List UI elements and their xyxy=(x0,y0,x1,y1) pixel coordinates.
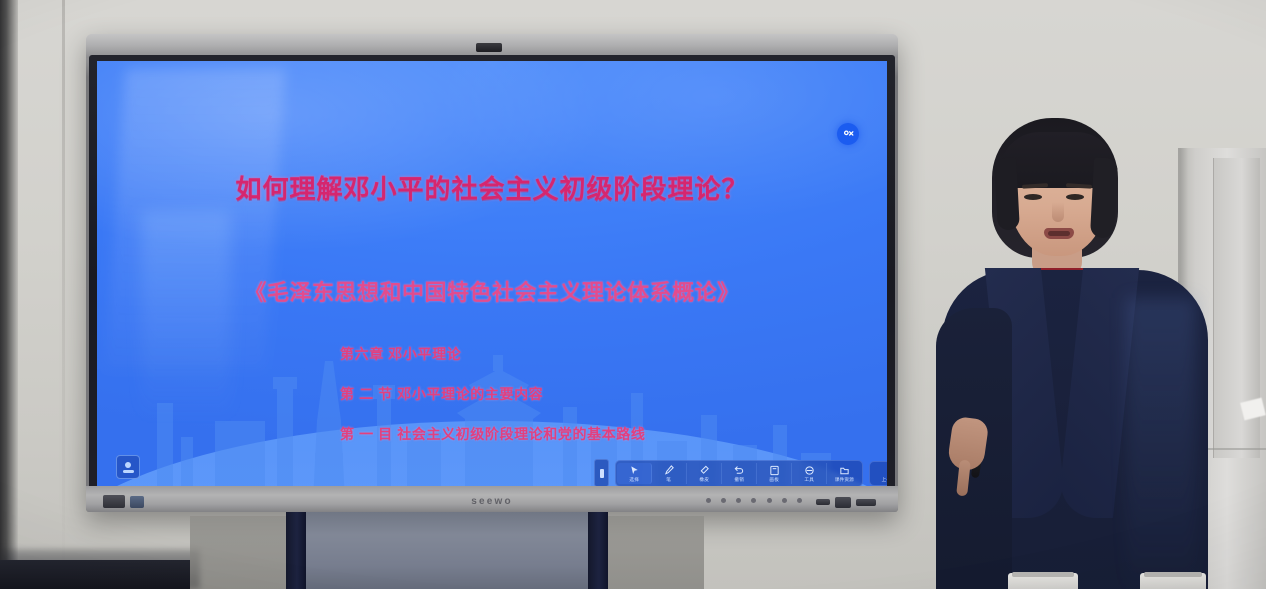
undo-icon xyxy=(733,464,745,477)
toolbar-tools[interactable]: 选择 笔 橡皮 xyxy=(615,460,863,487)
mouth-inner xyxy=(1048,231,1070,236)
eye-left xyxy=(1024,194,1042,200)
tool-label: 画板 xyxy=(769,478,779,483)
slide-bullet-list: 第六章 邓小平理论 第 二 节 邓小平理论的主要内容 第 一 目 社会主义初级阶… xyxy=(340,344,860,464)
tool-label: 撤销 xyxy=(734,478,744,483)
interactive-flat-panel: 如何理解邓小平的社会主义初级阶段理论？ 《毛泽东思想和中国特色社会主义理论体系概… xyxy=(86,34,898,512)
stand-backdrop-left xyxy=(190,516,286,589)
wall-left-edge xyxy=(0,0,18,589)
coat-highlight xyxy=(1126,298,1196,589)
desk-object-right-top xyxy=(1144,572,1202,577)
stand-leg-left xyxy=(286,512,306,589)
tool-label: 橡皮 xyxy=(699,478,709,483)
tool-undo[interactable]: 撤销 xyxy=(722,463,757,484)
cursor-icon xyxy=(629,464,640,477)
stand-panel xyxy=(306,512,588,589)
prev-page-button[interactable]: ‹ 上一页 xyxy=(872,464,887,483)
account-card-icon[interactable] xyxy=(116,455,140,479)
classroom-scene: 如何理解邓小平的社会主义初级阶段理论？ 《毛泽东思想和中国特色社会主义理论体系概… xyxy=(0,0,1266,589)
tool-pen[interactable]: 笔 xyxy=(652,463,687,484)
seewo-toolbar[interactable]: 选择 笔 橡皮 xyxy=(594,459,887,487)
hair-side-left xyxy=(994,157,1020,230)
slide-title: 如何理解邓小平的社会主义初级阶段理论？ xyxy=(97,169,887,206)
screen-reflection-left-2 xyxy=(141,211,231,421)
tool-board[interactable]: 画板 xyxy=(757,463,792,484)
wall-seam xyxy=(62,0,65,560)
tool-cursor[interactable]: 选择 xyxy=(617,463,652,484)
hair-side-right xyxy=(1090,157,1118,238)
list-item: 第六章 邓小平理论 xyxy=(340,344,860,364)
presenter xyxy=(940,118,1220,589)
pen-icon xyxy=(664,464,675,477)
eraser-icon xyxy=(699,464,710,477)
panel-bottom-bezel: seewo xyxy=(86,486,898,512)
slide-subtitle: 《毛泽东思想和中国特色社会主义理论体系概论》 xyxy=(97,275,887,307)
desk-object-left-top xyxy=(1012,572,1074,577)
list-item: 第 二 节 邓小平理论的主要内容 xyxy=(340,384,860,404)
stand-leg-right xyxy=(588,512,608,589)
eye-right xyxy=(1066,194,1084,200)
tool-label: 工具 xyxy=(804,478,814,483)
toolbar-collapse-handle[interactable] xyxy=(594,459,609,487)
foreground-desk xyxy=(0,560,190,589)
panel-bezel: 如何理解邓小平的社会主义初级阶段理论？ 《毛泽东思想和中国特色社会主义理论体系概… xyxy=(89,55,895,507)
nose xyxy=(1052,202,1064,222)
prev-page-label: 上一页 xyxy=(882,478,887,483)
stand-backdrop-right xyxy=(608,516,704,589)
tool-label: 选择 xyxy=(629,478,639,483)
panel-ports xyxy=(816,496,880,508)
tool-label: 课件资源 xyxy=(834,478,853,483)
page-icon xyxy=(769,464,780,477)
panel-control-buttons[interactable] xyxy=(706,497,802,504)
tool-eraser[interactable]: 橡皮 xyxy=(687,463,722,484)
list-item: 第 一 目 社会主义初级阶段理论和党的基本路线 xyxy=(340,424,860,444)
shape-icon xyxy=(804,464,815,477)
presentation-screen[interactable]: 如何理解邓小平的社会主义初级阶段理论？ 《毛泽东思想和中国特色社会主义理论体系概… xyxy=(97,61,887,501)
seewo-cloud-badge-icon[interactable] xyxy=(837,123,859,145)
tool-shape[interactable]: 工具 xyxy=(792,463,827,484)
tool-resources[interactable]: 课件资源 xyxy=(827,463,861,484)
tool-label: 笔 xyxy=(667,478,672,483)
folder-icon xyxy=(839,464,850,477)
slide-pager[interactable]: ‹ 上一页 1/17 页码 › 下一页 xyxy=(869,461,887,486)
camera-module-icon xyxy=(476,43,502,52)
